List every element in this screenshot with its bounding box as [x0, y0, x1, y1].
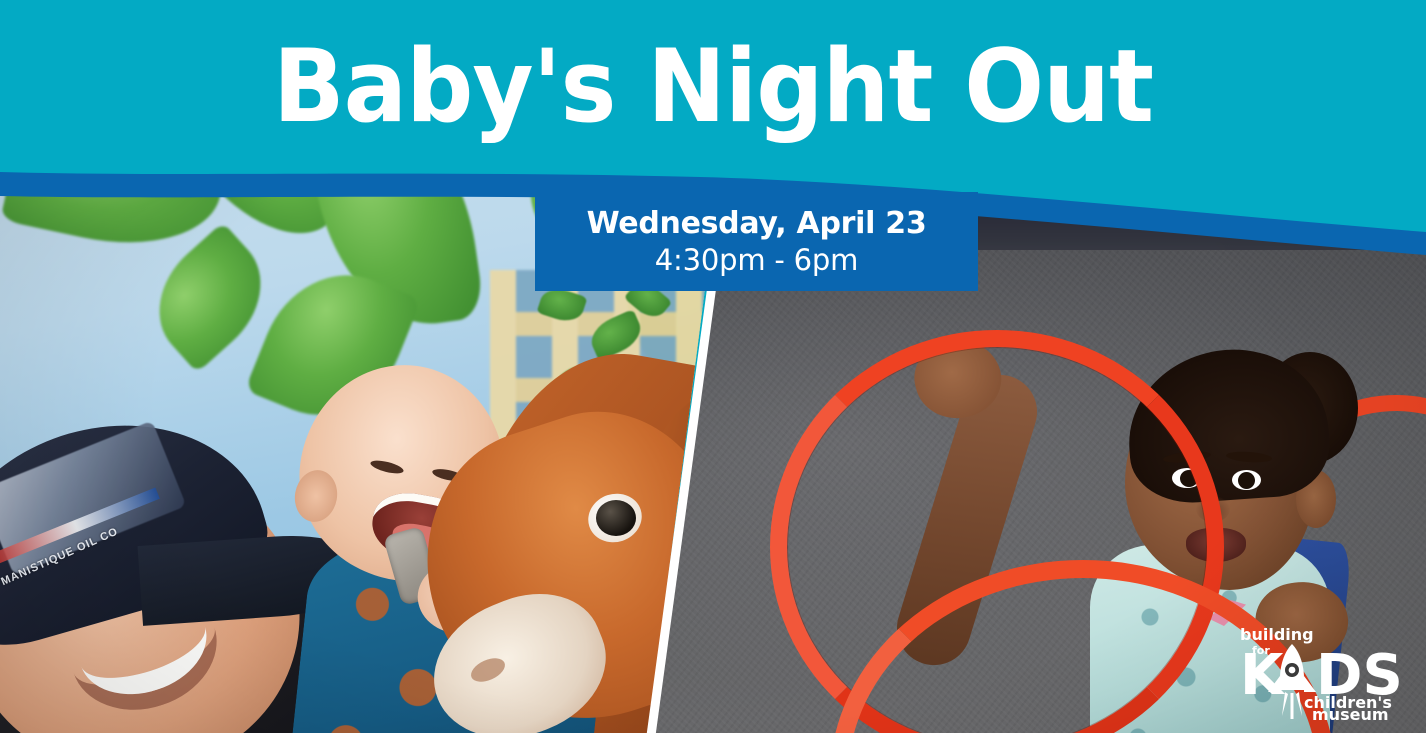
- event-banner: MANISTIQUE OIL CO: [0, 0, 1426, 733]
- logo-building-text: building: [1240, 625, 1314, 644]
- event-datetime-box: Wednesday, April 23 4:30pm - 6pm: [535, 192, 978, 291]
- event-date: Wednesday, April 23: [587, 206, 927, 241]
- toddler-pupil-right: [1238, 472, 1255, 489]
- logo-letter-k: K: [1240, 643, 1286, 708]
- building-for-kids-logo[interactable]: building for K DS children's museum: [1238, 620, 1410, 720]
- page-title: Baby's Night Out: [50, 33, 1376, 139]
- logo-museum-text: museum: [1312, 705, 1389, 720]
- event-time: 4:30pm - 6pm: [655, 243, 858, 277]
- model-cow-eye: [596, 500, 636, 536]
- logo-artwork: building for K DS children's museum: [1238, 620, 1410, 720]
